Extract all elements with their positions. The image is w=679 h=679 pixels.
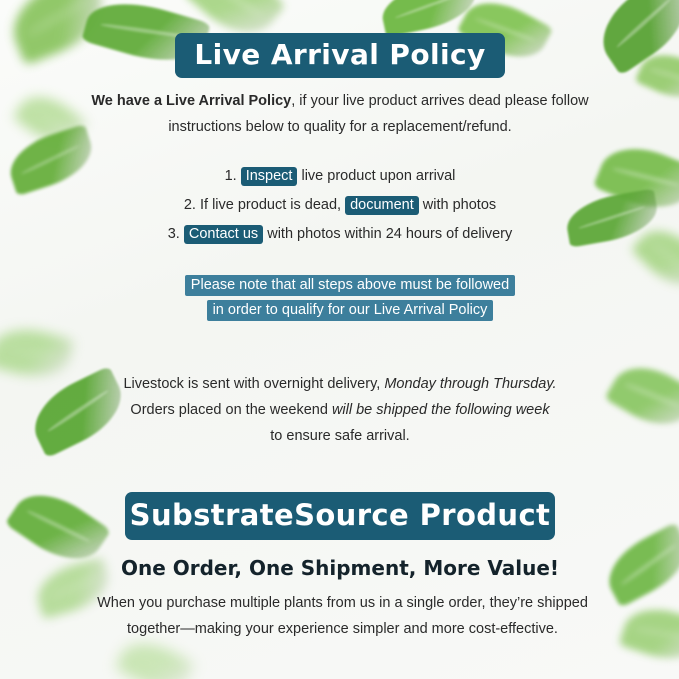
list-item: 1. Inspect live product upon arrival bbox=[120, 162, 560, 191]
intro-paragraph: We have a Live Arrival Policy, if your l… bbox=[60, 89, 620, 141]
policy-note-line-1: Please note that all steps above must be… bbox=[185, 275, 515, 296]
value-subheading: One Order, One Shipment, More Value! bbox=[70, 556, 610, 580]
intro-lead-text: We have a Live Arrival Policy bbox=[91, 93, 291, 109]
step-highlight: Inspect bbox=[241, 167, 298, 186]
shipping-line-1-italic: Monday through Thursday. bbox=[384, 376, 556, 392]
content-layer: Live Arrival Policy We have a Live Arriv… bbox=[0, 0, 679, 679]
live-arrival-policy-title: Live Arrival Policy bbox=[194, 38, 485, 71]
list-item: 3. Contact us with photos within 24 hour… bbox=[120, 220, 560, 249]
closing-line-2: together—making your experience simpler … bbox=[127, 621, 558, 637]
step-pre-text: If live product is dead, bbox=[200, 197, 345, 213]
substratesource-product-title: SubstrateSource Product bbox=[130, 498, 551, 532]
live-arrival-policy-banner: Live Arrival Policy bbox=[175, 33, 505, 78]
step-highlight: document bbox=[345, 196, 419, 215]
closing-paragraph: When you purchase multiple plants from u… bbox=[70, 590, 615, 642]
closing-line-1: When you purchase multiple plants from u… bbox=[97, 595, 588, 611]
step-post-text: live product upon arrival bbox=[297, 168, 455, 184]
step-highlight: Contact us bbox=[184, 225, 263, 244]
policy-infographic: Live Arrival Policy We have a Live Arriv… bbox=[0, 0, 679, 679]
shipping-line-1-plain: Livestock is sent with overnight deliver… bbox=[123, 376, 384, 392]
shipping-paragraph: Livestock is sent with overnight deliver… bbox=[70, 372, 610, 449]
steps-list: 1. Inspect live product upon arrival 2. … bbox=[120, 162, 560, 249]
shipping-line-2-italic: will be shipped the following week bbox=[332, 402, 550, 418]
step-post-text: with photos bbox=[419, 197, 496, 213]
step-number: 2. bbox=[184, 197, 196, 213]
list-item: 2. If live product is dead, document wit… bbox=[120, 191, 560, 220]
shipping-line-3: to ensure safe arrival. bbox=[270, 428, 409, 444]
policy-note: Please note that all steps above must be… bbox=[150, 273, 550, 324]
step-number: 3. bbox=[168, 226, 180, 242]
substratesource-product-banner: SubstrateSource Product bbox=[125, 492, 555, 540]
shipping-line-2-plain: Orders placed on the weekend bbox=[130, 402, 332, 418]
step-post-text: with photos within 24 hours of delivery bbox=[263, 226, 512, 242]
policy-note-line-2: in order to qualify for our Live Arrival… bbox=[207, 300, 494, 321]
step-number: 1. bbox=[225, 168, 237, 184]
